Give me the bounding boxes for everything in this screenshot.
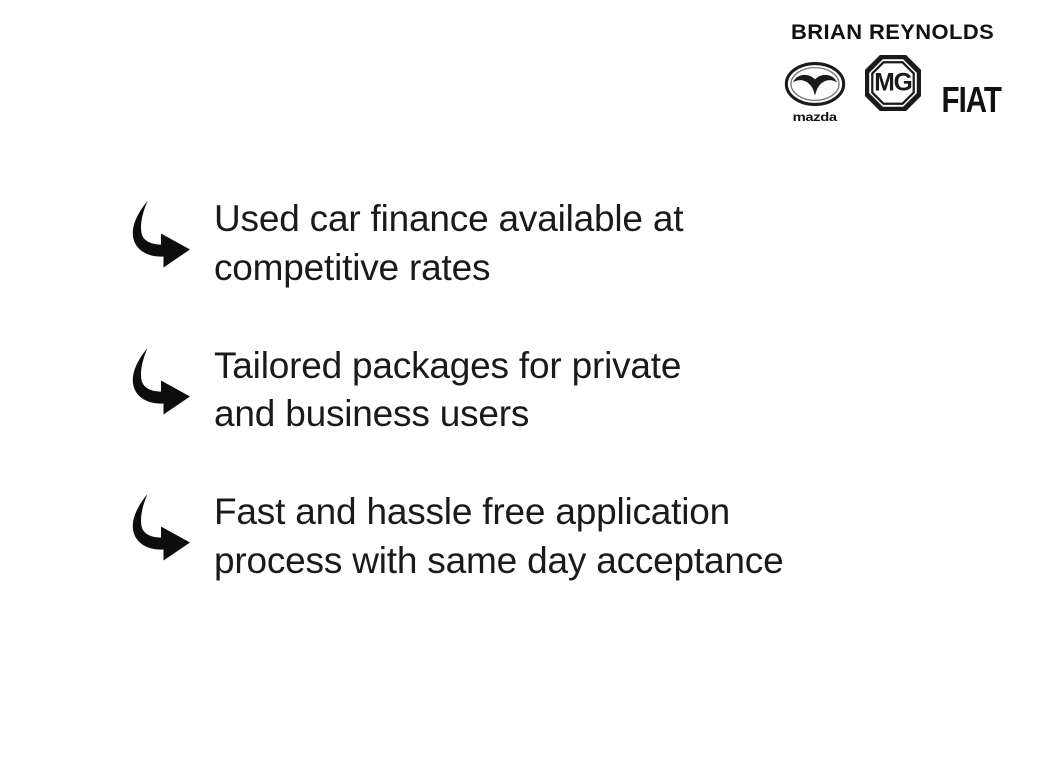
feature-bullet-list: Used car finance available at competitiv… bbox=[128, 193, 948, 586]
list-item: Fast and hassle free application process… bbox=[128, 486, 948, 586]
mg-octagon-icon: MG bbox=[865, 55, 921, 116]
mazda-logo: mazda bbox=[784, 62, 846, 125]
manufacturer-logo-row: mazda MG FIAT bbox=[784, 55, 1002, 125]
curved-arrow-icon bbox=[128, 199, 194, 271]
mazda-oval-icon bbox=[784, 62, 846, 111]
bullet-text: Fast and hassle free application process… bbox=[214, 486, 948, 586]
bullet-text: Used car finance available at competitiv… bbox=[214, 193, 948, 293]
fiat-wordmark: FIAT bbox=[941, 85, 1000, 115]
curved-arrow-icon bbox=[128, 492, 194, 564]
curved-arrow-icon bbox=[128, 346, 194, 418]
brand-block: BRIAN REYNOLDS mazda MG bbox=[784, 22, 1002, 125]
dealer-name: BRIAN REYNOLDS bbox=[791, 22, 994, 44]
bullet-text: Tailored packages for private and busine… bbox=[214, 340, 948, 440]
mg-logo: MG bbox=[865, 55, 921, 125]
mazda-wordmark: mazda bbox=[793, 112, 837, 124]
fiat-logo: FIAT bbox=[940, 85, 1002, 124]
list-item: Tailored packages for private and busine… bbox=[128, 340, 948, 440]
svg-text:MG: MG bbox=[874, 69, 911, 96]
list-item: Used car finance available at competitiv… bbox=[128, 193, 948, 293]
